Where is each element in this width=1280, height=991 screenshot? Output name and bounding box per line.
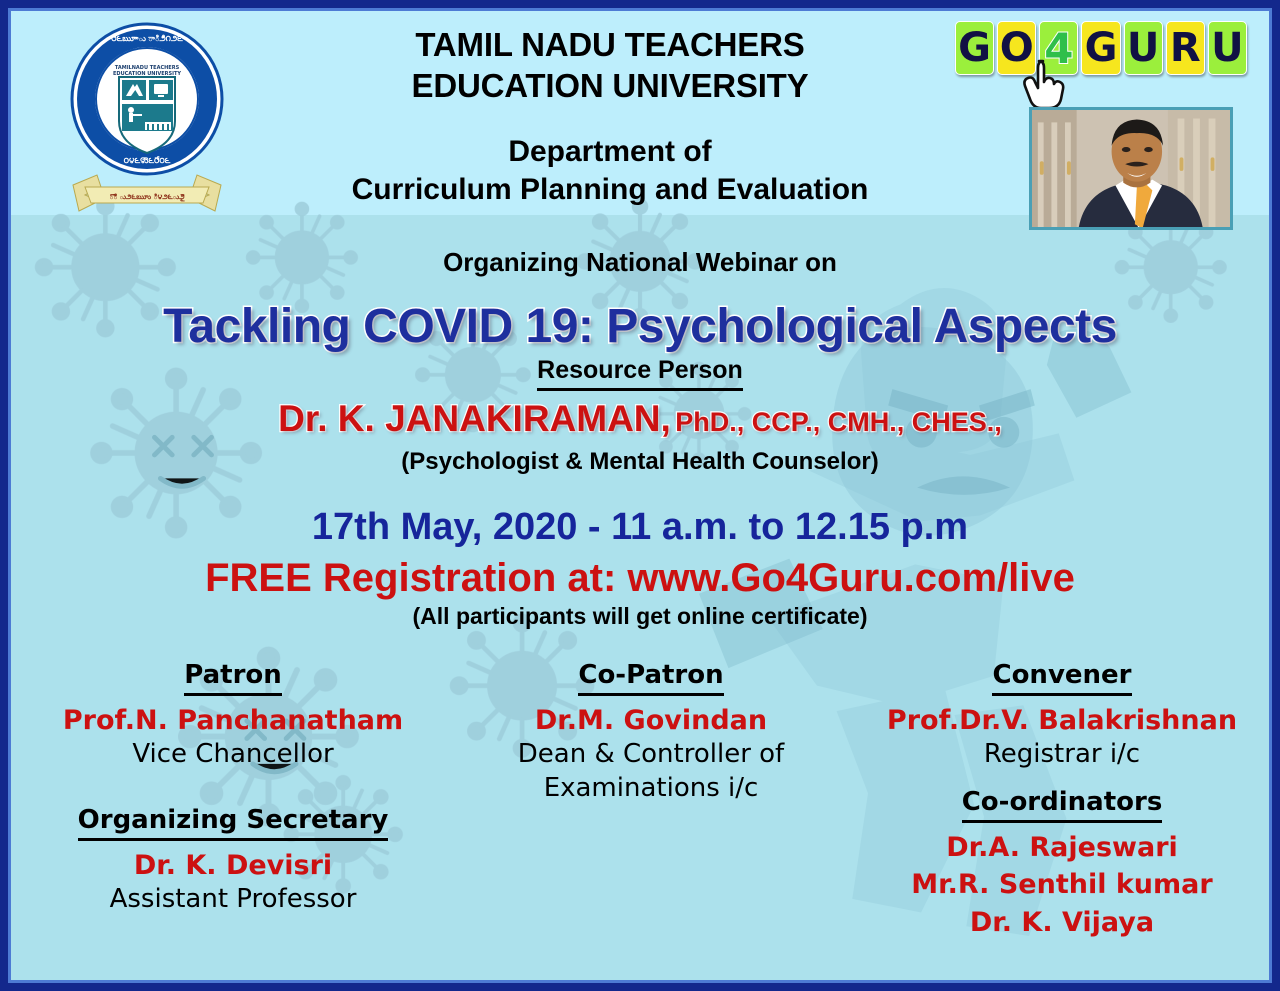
- speaker-portrait-photo: [1029, 107, 1233, 230]
- patron-title: Vice Chancellor: [33, 738, 433, 772]
- poster-inner-frame: ౜౦ి౬ౠా౗ు ా౒ి౨ి౧౨౬: [8, 8, 1272, 983]
- coordinator-name-3: Dr. K. Vijaya: [857, 904, 1267, 942]
- convener-name: Prof.Dr.V. Balakrishnan: [857, 703, 1267, 738]
- university-title: TAMIL NADU TEACHERS EDUCATION UNIVERSITY: [251, 25, 969, 106]
- organizing-line: Organizing National Webinar on: [11, 247, 1269, 278]
- university-seal-icon: ౜౦ి౬ౠా౗ు ా౒ి౨ి౧౨౬: [59, 17, 235, 213]
- brand-tile-g1: G: [955, 21, 994, 75]
- webinar-poster: ౜౦ి౬ౠా౗ు ా౒ి౨ి౧౨౬: [0, 0, 1280, 991]
- co-patron-title-line1: Dean & Controller of: [451, 738, 851, 772]
- brand-tile-r: R: [1166, 21, 1205, 75]
- resource-person-label: Resource Person: [537, 356, 743, 391]
- co-patron-role-label: Co-Patron: [578, 661, 723, 696]
- poster-header: ౜౦ి౬ౠా౗ు ా౒ి౨ి౧౨౬: [11, 11, 1269, 215]
- organizing-secretary-block: Organizing Secretary Dr. K. Devisri Assi…: [33, 806, 433, 917]
- department-title-line2: Curriculum Planning and Evaluation: [251, 171, 969, 209]
- speaker-name-row: Dr. K. JANAKIRAMAN, PhD., CCP., CMH., CH…: [11, 398, 1269, 440]
- department-title: Department of Curriculum Planning and Ev…: [251, 133, 969, 210]
- co-patron-block: Co-Patron Dr.M. Govindan Dean & Controll…: [451, 661, 851, 806]
- resource-person-label-wrap: Resource Person: [11, 356, 1269, 391]
- coordinator-name-2: Mr.R. Senthil kumar: [857, 866, 1267, 904]
- coordinator-name-1: Dr.A. Rajeswari: [857, 829, 1267, 867]
- svg-text:EDUCATION UNIVERSITY: EDUCATION UNIVERSITY: [113, 71, 181, 77]
- convener-title: Registrar i/c: [857, 738, 1267, 772]
- pointing-hand-cursor-icon: [1023, 57, 1067, 107]
- department-title-line1: Department of: [251, 133, 969, 171]
- university-title-line1: TAMIL NADU TEACHERS: [251, 25, 969, 66]
- svg-text:౦౪౬౉౪ౌు౉౬౉౦ే౦౬: ౦౪౬౉౪ౌు౉౬౉౦ే౦౬: [124, 156, 171, 165]
- university-title-line2: EDUCATION UNIVERSITY: [251, 66, 969, 107]
- certificate-note: (All participants will get online certif…: [11, 603, 1269, 630]
- registration-line[interactable]: FREE Registration at: www.Go4Guru.com/li…: [11, 556, 1269, 601]
- co-patron-name: Dr.M. Govindan: [451, 703, 851, 738]
- patron-name: Prof.N. Panchanatham: [33, 703, 433, 738]
- organizing-secretary-role-label: Organizing Secretary: [78, 806, 389, 841]
- coordinators-role-label: Co-ordinators: [962, 788, 1163, 823]
- date-time-line: 17th May, 2020 - 11 a.m. to 12.15 p.m: [11, 506, 1269, 549]
- co-patron-title-line2: Examinations i/c: [451, 772, 851, 806]
- brand-tile-g2: G: [1081, 21, 1120, 75]
- speaker-name: Dr. K. JANAKIRAMAN,: [278, 398, 671, 439]
- credits-column-left: Patron Prof.N. Panchanatham Vice Chancel…: [33, 661, 433, 917]
- svg-text:ొ౜ి ు౛౨౬ౠు ౎ి౪౨౬౉ు౨ై: ొ౜ి ు౛౨౬ౠు ౎ి౪౨౬౉ు౨ై: [109, 193, 185, 202]
- patron-role-label: Patron: [184, 661, 282, 696]
- speaker-qualifications: PhD., CCP., CMH., CHES.,: [675, 407, 1002, 437]
- go4guru-tiles: G O 4 G U R U: [955, 21, 1247, 75]
- coordinators-block: Co-ordinators Dr.A. Rajeswari Mr.R. Sent…: [857, 788, 1267, 942]
- credits-section: Patron Prof.N. Panchanatham Vice Chancel…: [19, 661, 1261, 974]
- svg-text:౜౦ి౬ౠా౗ు ా౒ి౨ి౧౨౬: ౜౦ి౬ౠా౗ు ా౒ి౨ి౧౨౬: [111, 34, 183, 43]
- organizing-secretary-title: Assistant Professor: [33, 883, 433, 917]
- organizing-secretary-name: Dr. K. Devisri: [33, 848, 433, 883]
- brand-tile-u1: U: [1124, 21, 1163, 75]
- go4guru-logo[interactable]: G O 4 G U R U: [955, 21, 1247, 85]
- brand-tile-u2: U: [1208, 21, 1247, 75]
- convener-role-label: Convener: [992, 661, 1131, 696]
- credits-column-middle: Co-Patron Dr.M. Govindan Dean & Controll…: [451, 661, 851, 806]
- credits-column-right: Convener Prof.Dr.V. Balakrishnan Registr…: [857, 661, 1267, 942]
- webinar-title: Tackling COVID 19: Psychological Aspects: [11, 299, 1269, 354]
- convener-block: Convener Prof.Dr.V. Balakrishnan Registr…: [857, 661, 1267, 772]
- speaker-subtitle: (Psychologist & Mental Health Counselor): [11, 448, 1269, 476]
- patron-block: Patron Prof.N. Panchanatham Vice Chancel…: [33, 661, 433, 772]
